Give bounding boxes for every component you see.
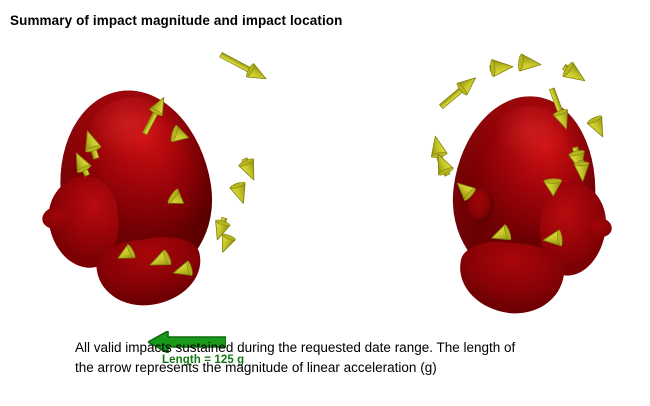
impact-arrow (429, 149, 456, 180)
impact-arrow (541, 229, 563, 250)
head-scene-right (410, 48, 650, 328)
report-caption: All valid impacts sustained during the r… (75, 338, 595, 378)
impact-arrow (585, 112, 612, 141)
impact-summary-report: Summary of impact magnitude and impact l… (0, 0, 650, 406)
impact-arrow (487, 57, 514, 78)
impact-arrow (215, 46, 271, 86)
page-title: Summary of impact magnitude and impact l… (10, 13, 343, 28)
impact-arrow (543, 179, 564, 198)
impact-arrow (434, 71, 482, 115)
head-view-right[interactable]: Length = 125 g (410, 48, 650, 328)
impact-arrow (517, 53, 543, 74)
impact-arrow (573, 158, 592, 183)
head-mesh-left (46, 79, 224, 290)
head-view-left[interactable]: Length = 125 g (20, 48, 310, 328)
head-scene-left (20, 48, 310, 328)
impact-arrow (557, 58, 591, 89)
